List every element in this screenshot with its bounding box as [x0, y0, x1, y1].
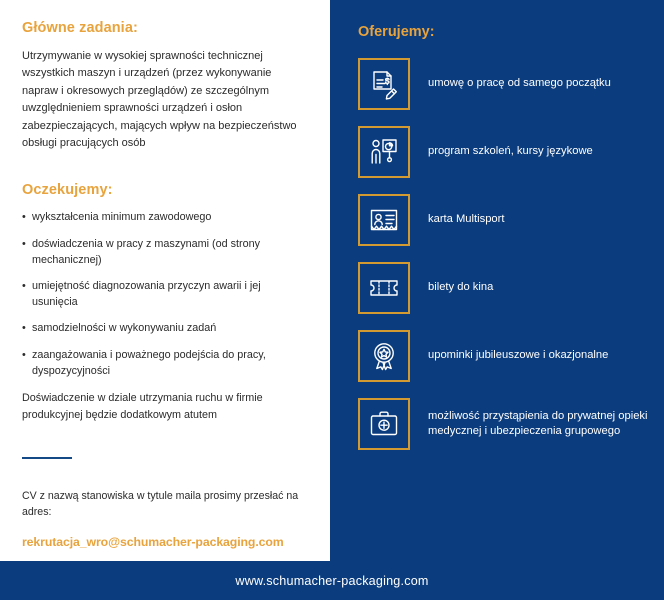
main-tasks-heading: Główne zadania:	[22, 20, 308, 36]
list-item: program szkoleń, kursy językowe	[358, 126, 650, 178]
list-item: upominki jubileuszowe i okazjonalne	[358, 330, 650, 382]
benefit-icon-frame	[358, 58, 410, 110]
medical-kit-icon	[368, 408, 400, 440]
list-item: • doświadczenia w pracy z maszynami (od …	[22, 237, 308, 268]
list-item-label: umowę o pracę od samego początku	[428, 76, 611, 91]
list-item-label: samodzielności w wykonywaniu zadań	[32, 322, 216, 334]
list-item: • samodzielności w wykonywaniu zadań	[22, 321, 308, 337]
requirements-note: Doświadczenie w dziale utrzymania ruchu …	[22, 390, 308, 422]
benefits-panel: Oferujemy: umowę o pracę od samego począ…	[340, 0, 664, 561]
offer-heading: Oferujemy:	[358, 24, 650, 40]
list-item-label: program szkoleń, kursy językowe	[428, 144, 593, 159]
list-item: umowę o pracę od samego początku	[358, 58, 650, 110]
list-item: • wykształcenia minimum zawodowego	[22, 210, 308, 226]
list-item-label: karta Multisport	[428, 212, 504, 227]
list-item: bilety do kina	[358, 262, 650, 314]
bullet-marker-icon: •	[22, 279, 26, 295]
list-item: karta Multisport	[358, 194, 650, 246]
benefits-list: umowę o pracę od samego początku	[358, 58, 650, 450]
list-item: • zaangażowania i poważnego podejścia do…	[22, 348, 308, 379]
list-item-label: upominki jubileuszowe i okazjonalne	[428, 348, 608, 363]
benefit-icon-frame	[358, 126, 410, 178]
bullet-marker-icon: •	[22, 321, 26, 337]
list-item-label: doświadczenia w pracy z maszynami (od st…	[32, 238, 260, 266]
benefit-icon-frame	[358, 330, 410, 382]
benefit-icon-frame	[358, 194, 410, 246]
cinema-ticket-icon	[368, 272, 400, 304]
spacer	[22, 152, 308, 182]
id-card-icon	[368, 204, 400, 236]
list-item-label: możliwość przystąpienia do prywatnej opi…	[428, 409, 650, 440]
list-item-label: bilety do kina	[428, 280, 493, 295]
company-website-url[interactable]: www.schumacher-packaging.com	[235, 574, 428, 588]
list-item: możliwość przystąpienia do prywatnej opi…	[358, 398, 650, 450]
requirements-list: • wykształcenia minimum zawodowego • doś…	[22, 210, 308, 379]
bullet-marker-icon: •	[22, 210, 26, 226]
list-item-label: zaangażowania i poważnego podejścia do p…	[32, 349, 266, 377]
recruitment-email-link[interactable]: rekrutacja_wro@schumacher-packaging.com	[22, 535, 308, 549]
left-content-panel: Główne zadania: Utrzymywanie w wysokiej …	[0, 0, 330, 561]
job-offer-poster: Główne zadania: Utrzymywanie w wysokiej …	[0, 0, 664, 600]
training-presentation-icon	[368, 136, 400, 168]
contract-document-icon	[368, 68, 400, 100]
main-tasks-body: Utrzymywanie w wysokiej sprawności techn…	[22, 48, 308, 152]
application-instructions: CV z nazwą stanowiska w tytule maila pro…	[22, 489, 308, 521]
award-medal-icon	[368, 340, 400, 372]
bullet-marker-icon: •	[22, 348, 26, 364]
list-item: • umiejętność diagnozowania przyczyn awa…	[22, 279, 308, 310]
footer-bar: www.schumacher-packaging.com	[0, 561, 664, 600]
benefit-icon-frame	[358, 398, 410, 450]
bullet-marker-icon: •	[22, 237, 26, 253]
list-item-label: wykształcenia minimum zawodowego	[32, 211, 211, 223]
requirements-heading: Oczekujemy:	[22, 182, 308, 198]
benefit-icon-frame	[358, 262, 410, 314]
list-item-label: umiejętność diagnozowania przyczyn awari…	[32, 280, 261, 308]
section-divider	[22, 457, 72, 459]
